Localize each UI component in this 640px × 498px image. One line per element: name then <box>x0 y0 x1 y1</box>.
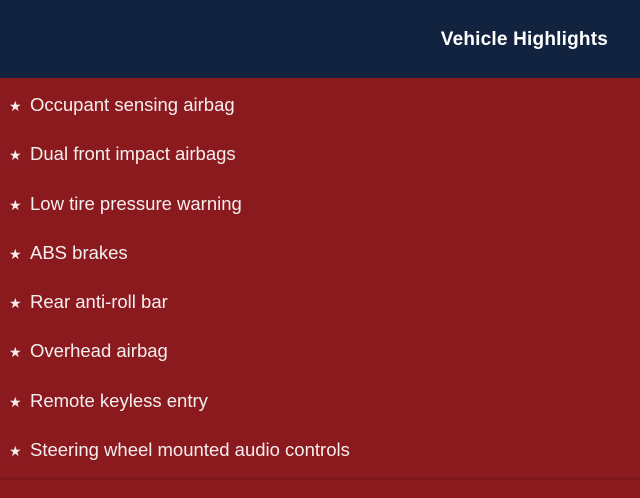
highlights-panel: ★ Occupant sensing airbag ★ Dual front i… <box>0 78 640 498</box>
list-item-label: Low tire pressure warning <box>30 193 242 215</box>
list-item-label: ABS brakes <box>30 242 128 264</box>
star-icon: ★ <box>9 440 30 462</box>
list-item-label: Steering wheel mounted audio controls <box>30 439 350 461</box>
page-title: Vehicle Highlights <box>441 30 608 49</box>
list-item-label: Remote keyless entry <box>30 390 208 412</box>
list-item-label: Overhead airbag <box>30 340 168 362</box>
star-icon: ★ <box>9 292 30 314</box>
list-item-label: Rear anti-roll bar <box>30 291 168 313</box>
header-bar: Vehicle Highlights <box>0 0 640 78</box>
list-item-label: Occupant sensing airbag <box>30 94 235 116</box>
star-icon: ★ <box>9 391 30 413</box>
star-icon: ★ <box>9 95 30 117</box>
list-item: ★ Low tire pressure warning <box>9 193 622 242</box>
vehicle-highlights-list: ★ Occupant sensing airbag ★ Dual front i… <box>9 94 622 488</box>
list-item: ★ Rear anti-roll bar <box>9 291 622 340</box>
star-icon: ★ <box>9 341 30 363</box>
list-item: ★ Occupant sensing airbag <box>9 94 622 143</box>
vehicle-highlights-slide: Vehicle Highlights ★ Occupant sensing ai… <box>0 0 640 480</box>
star-icon: ★ <box>9 243 30 265</box>
list-item-label: Dual front impact airbags <box>30 143 236 165</box>
star-icon: ★ <box>9 194 30 216</box>
star-icon: ★ <box>9 144 30 166</box>
list-item: ★ Dual front impact airbags <box>9 143 622 192</box>
list-item: ★ Remote keyless entry <box>9 390 622 439</box>
list-item: ★ ABS brakes <box>9 242 622 291</box>
list-item: ★ Steering wheel mounted audio controls <box>9 439 622 488</box>
list-item: ★ Overhead airbag <box>9 340 622 389</box>
